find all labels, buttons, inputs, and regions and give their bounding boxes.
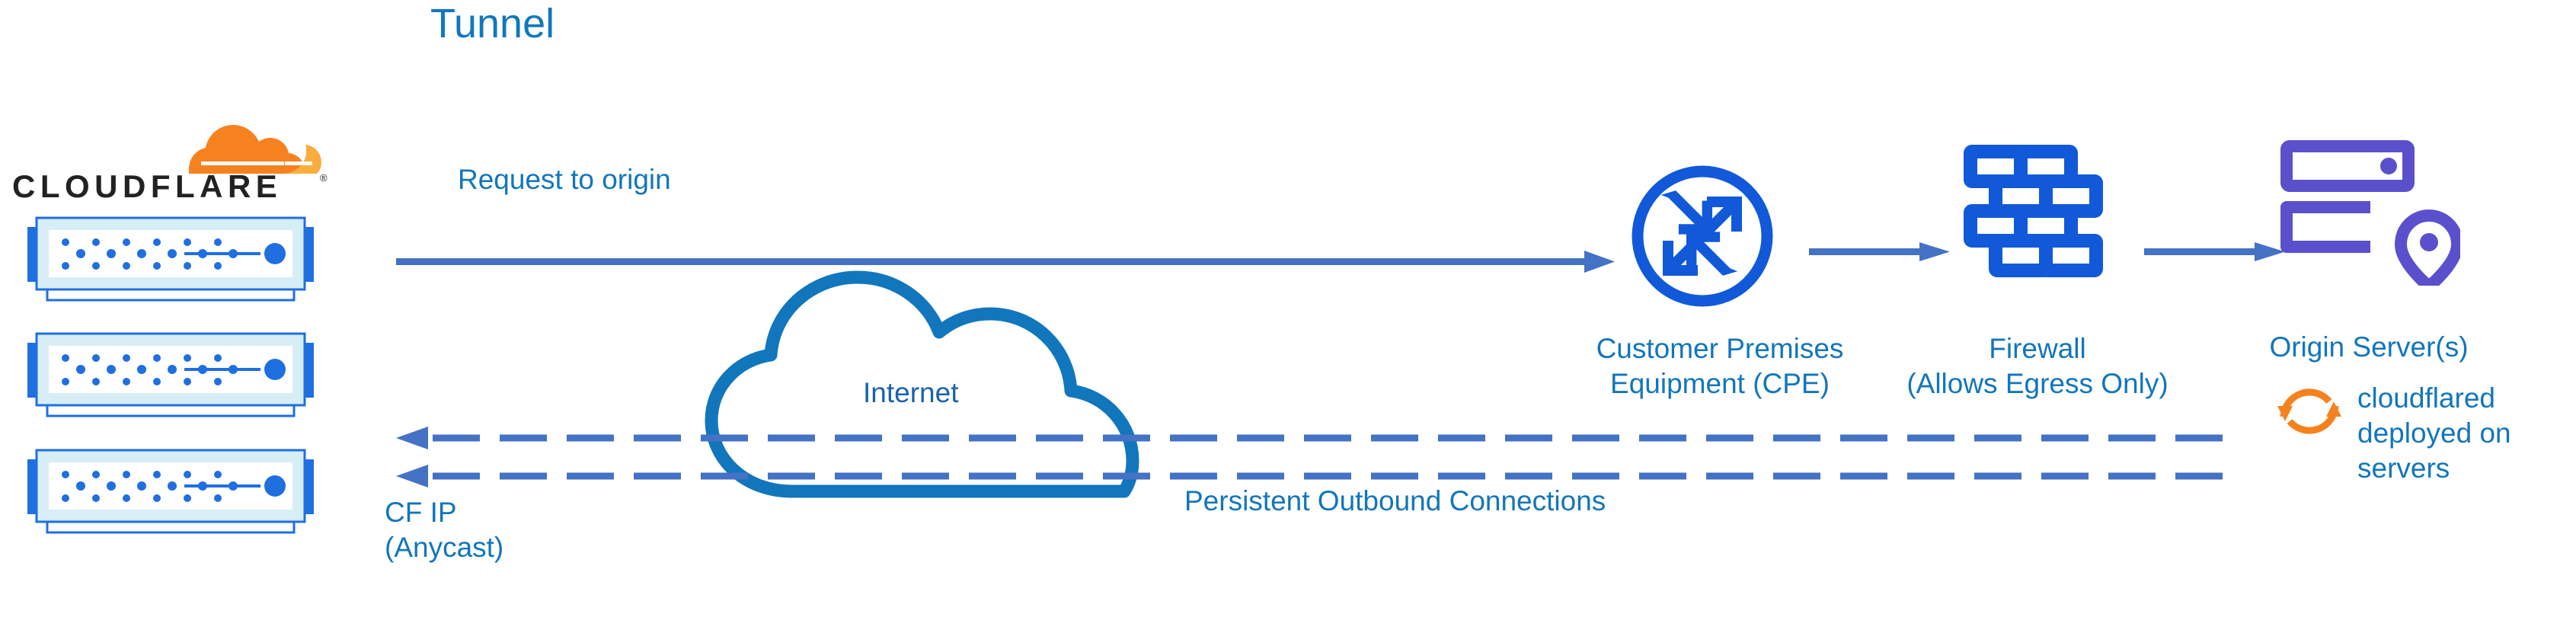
persistent-outbound-connections-label: Persistent Outbound Connections (1184, 485, 1606, 517)
registered-trademark-icon: ® (320, 172, 328, 184)
cpe-label: Customer Premises Equipment (CPE) (1560, 331, 1880, 401)
cloudflared-label-line-3: servers (2357, 451, 2563, 486)
sync-arrows-icon (2274, 376, 2344, 446)
internet-label: Internet (863, 377, 958, 409)
cloudflare-edge-server-2 (11, 328, 331, 420)
server-rack-location-pin-icon (2277, 137, 2460, 286)
cpe-label-line-1: Customer Premises (1560, 331, 1880, 366)
cloudflare-logo: CLOUDFLARE ® (12, 107, 332, 202)
cpe-label-line-2: Equipment (CPE) (1560, 366, 1880, 401)
arrow-cpe-to-firewall (1809, 240, 1961, 263)
firewall-label-line-2: (Allows Egress Only) (1870, 366, 2205, 401)
dashed-line-lower (396, 465, 2239, 488)
cloudflared-label: cloudflared deployed on servers (2357, 381, 2563, 486)
arrow-firewall-to-origin (2144, 240, 2296, 263)
firewall-label-line-1: Firewall (1870, 331, 2205, 366)
cloudflare-wordmark: CLOUDFLARE (12, 168, 282, 202)
diagram-canvas: Tunnel CLOUDFLARE ® (0, 0, 2576, 617)
cf-ip-anycast-label: CF IP (Anycast) (385, 495, 503, 565)
cloudflare-edge-server-1 (11, 212, 331, 305)
origin-server-label: Origin Server(s) (2194, 331, 2544, 363)
cloudflare-cloud-mark (189, 125, 321, 174)
cloudflared-label-line-1: cloudflared (2357, 381, 2563, 416)
firewall-label: Firewall (Allows Egress Only) (1870, 331, 2205, 401)
dashed-line-upper (396, 427, 2239, 449)
cf-ip-line-2: (Anycast) (385, 530, 503, 565)
brick-wall-icon (1961, 143, 2114, 292)
cloudflare-edge-server-3 (11, 444, 331, 537)
svg-text:CLOUDFLARE: CLOUDFLARE (12, 168, 282, 202)
page-title: Tunnel (430, 0, 555, 47)
cloudflared-label-line-2: deployed on (2357, 416, 2563, 451)
router-four-arrows-icon (1626, 160, 1779, 312)
persistent-outbound-connections-arrows (396, 419, 2255, 495)
cf-ip-line-1: CF IP (385, 495, 503, 530)
request-to-origin-label: Request to origin (458, 164, 671, 196)
